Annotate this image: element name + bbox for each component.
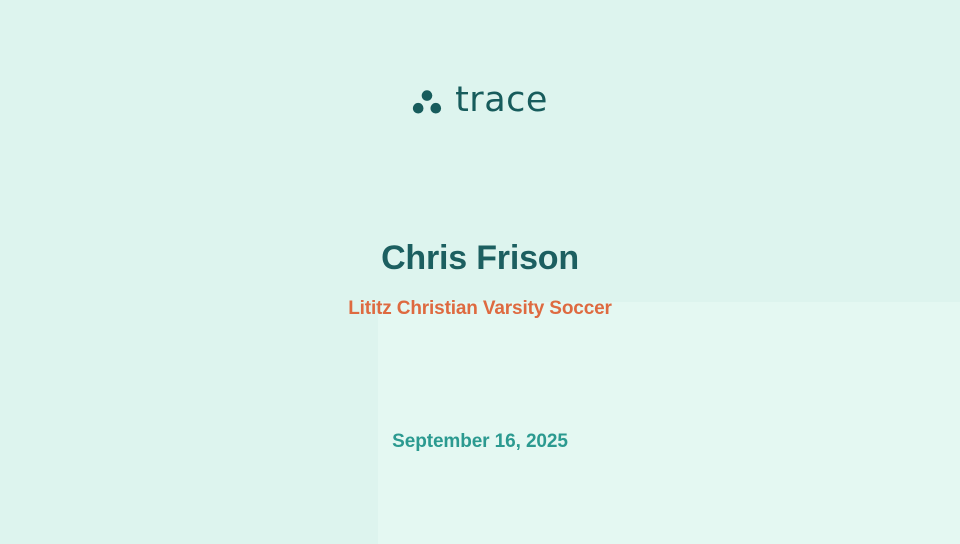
title-card-content: trace Chris Frison Lititz Christian Vars… <box>0 0 960 544</box>
trace-logo: trace <box>0 84 960 119</box>
athlete-name: Chris Frison <box>0 240 960 277</box>
event-date: September 16, 2025 <box>0 431 960 454</box>
trace-wordmark: trace <box>455 83 548 118</box>
team-name: Lititz Christian Varsity Soccer <box>330 298 630 320</box>
title-card: trace Chris Frison Lititz Christian Vars… <box>0 0 960 544</box>
trace-three-dots-logo-mark <box>412 89 442 115</box>
